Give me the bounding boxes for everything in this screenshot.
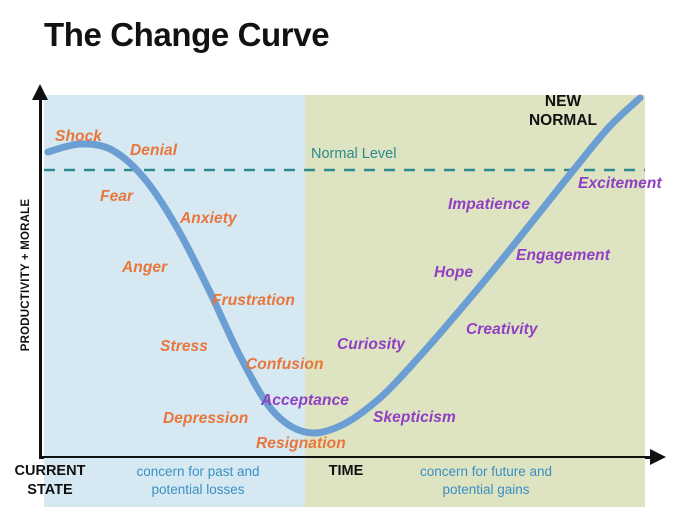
y-axis-arrow-icon [32, 84, 48, 100]
emotion-label: Excitement [578, 175, 662, 193]
past-caption-line-1: concern for past and [98, 463, 298, 481]
emotion-label: Hope [434, 264, 473, 282]
page-title: The Change Curve [44, 16, 329, 54]
y-axis-line [39, 97, 42, 458]
new-normal-line-1: NEW [503, 92, 623, 111]
emotion-label: Stress [160, 338, 208, 356]
emotion-label: Anger [122, 259, 167, 277]
emotion-label: Confusion [246, 356, 324, 374]
emotion-label: Engagement [516, 247, 610, 265]
emotion-label: Fear [100, 188, 133, 206]
new-normal-label: NEW NORMAL [503, 92, 623, 131]
current-state-line-1: CURRENT [0, 462, 100, 481]
y-axis-title: PRODUCTIVITY + MORALE [20, 175, 32, 375]
emotion-label: Acceptance [261, 392, 349, 410]
emotion-label: Denial [130, 142, 177, 160]
emotion-label: Curiosity [337, 336, 405, 354]
emotion-label: Anxiety [180, 210, 237, 228]
future-caption: concern for future and potential gains [383, 463, 589, 498]
emotion-label: Creativity [466, 321, 538, 339]
emotion-label: Impatience [448, 196, 530, 214]
current-state-line-2: STATE [0, 481, 100, 500]
future-caption-line-2: potential gains [383, 481, 589, 499]
new-normal-line-2: NORMAL [503, 111, 623, 130]
past-caption: concern for past and potential losses [98, 463, 298, 498]
emotion-label: Frustration [212, 292, 295, 310]
normal-level-label: Normal Level [311, 146, 396, 162]
change-curve-diagram: The Change Curve PRODUCTIVITY + MORALE N… [0, 0, 680, 507]
emotion-label: Shock [55, 128, 102, 146]
emotion-label: Depression [163, 410, 248, 428]
future-caption-line-1: concern for future and [383, 463, 589, 481]
past-caption-line-2: potential losses [98, 481, 298, 499]
current-state-label: CURRENT STATE [0, 462, 100, 499]
emotion-label: Resignation [256, 435, 346, 453]
emotion-label: Skepticism [373, 409, 456, 427]
x-axis-title: TIME [308, 463, 384, 479]
x-axis-arrow-icon [650, 449, 666, 465]
